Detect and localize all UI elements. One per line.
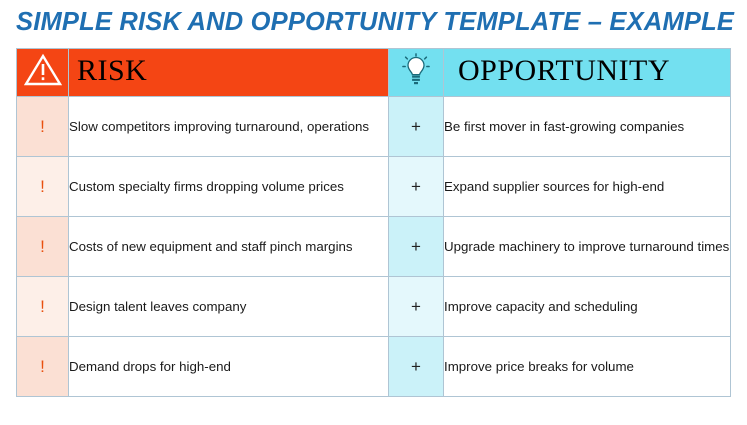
opportunity-description: Improve price breaks for volume bbox=[444, 337, 731, 397]
risk-description: Design talent leaves company bbox=[69, 277, 389, 337]
opportunity-description: Improve capacity and scheduling bbox=[444, 277, 731, 337]
risk-description: Costs of new equipment and staff pinch m… bbox=[69, 217, 389, 277]
opportunity-marker: + bbox=[389, 157, 444, 217]
risk-marker: ! bbox=[17, 97, 69, 157]
opportunity-marker: + bbox=[389, 337, 444, 397]
page-title: SIMPLE RISK AND OPPORTUNITY TEMPLATE – E… bbox=[16, 8, 731, 37]
risk-header-label: RISK bbox=[69, 52, 388, 93]
risk-opportunity-table: RISK bbox=[16, 48, 731, 397]
table-row: ! Slow competitors improving turnaround,… bbox=[17, 97, 731, 157]
risk-marker: ! bbox=[17, 337, 69, 397]
opportunity-description: Be first mover in fast-growing companies bbox=[444, 97, 731, 157]
opportunity-marker: + bbox=[389, 97, 444, 157]
warning-triangle-icon bbox=[24, 53, 62, 92]
opportunity-header-cell: OPPORTUNITY bbox=[444, 49, 731, 97]
table-row: ! Design talent leaves company + Improve… bbox=[17, 277, 731, 337]
risk-marker: ! bbox=[17, 217, 69, 277]
table-row: ! Demand drops for high-end + Improve pr… bbox=[17, 337, 731, 397]
opportunity-description: Upgrade machinery to improve turnaround … bbox=[444, 217, 731, 277]
opportunity-marker: + bbox=[389, 217, 444, 277]
table-row: ! Costs of new equipment and staff pinch… bbox=[17, 217, 731, 277]
opportunity-header-icon-cell bbox=[389, 49, 444, 97]
lightbulb-icon bbox=[402, 53, 430, 92]
risk-opportunity-template: SIMPLE RISK AND OPPORTUNITY TEMPLATE – E… bbox=[0, 0, 747, 425]
risk-header-icon-cell bbox=[17, 49, 69, 97]
opportunity-description: Expand supplier sources for high-end bbox=[444, 157, 731, 217]
risk-description: Custom specialty firms dropping volume p… bbox=[69, 157, 389, 217]
risk-description: Slow competitors improving turnaround, o… bbox=[69, 97, 389, 157]
opportunity-marker: + bbox=[389, 277, 444, 337]
table-header-row: RISK bbox=[17, 49, 731, 97]
risk-header-cell: RISK bbox=[69, 49, 389, 97]
risk-marker: ! bbox=[17, 157, 69, 217]
table-row: ! Custom specialty firms dropping volume… bbox=[17, 157, 731, 217]
risk-description: Demand drops for high-end bbox=[69, 337, 389, 397]
risk-marker: ! bbox=[17, 277, 69, 337]
opportunity-header-label: OPPORTUNITY bbox=[444, 52, 730, 93]
